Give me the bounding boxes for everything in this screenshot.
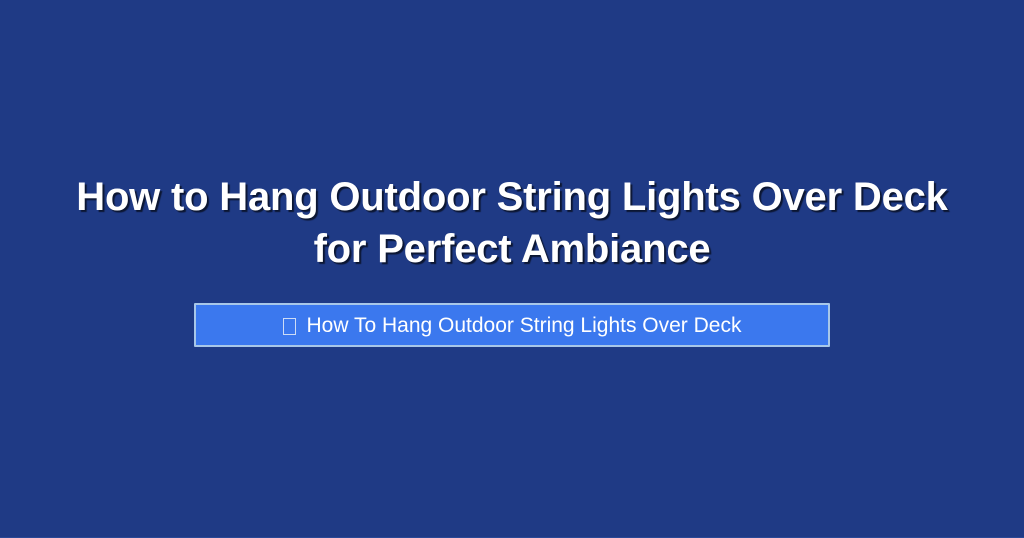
page-root: How to Hang Outdoor String Lights Over D… xyxy=(0,0,1024,538)
missing-glyph-box-icon xyxy=(283,318,296,335)
cta-label: How To Hang Outdoor String Lights Over D… xyxy=(307,315,742,336)
page-title: How to Hang Outdoor String Lights Over D… xyxy=(52,171,972,275)
hang-outdoor-string-lights-link[interactable]: How To Hang Outdoor String Lights Over D… xyxy=(194,303,830,347)
cta-container: How To Hang Outdoor String Lights Over D… xyxy=(194,303,830,347)
